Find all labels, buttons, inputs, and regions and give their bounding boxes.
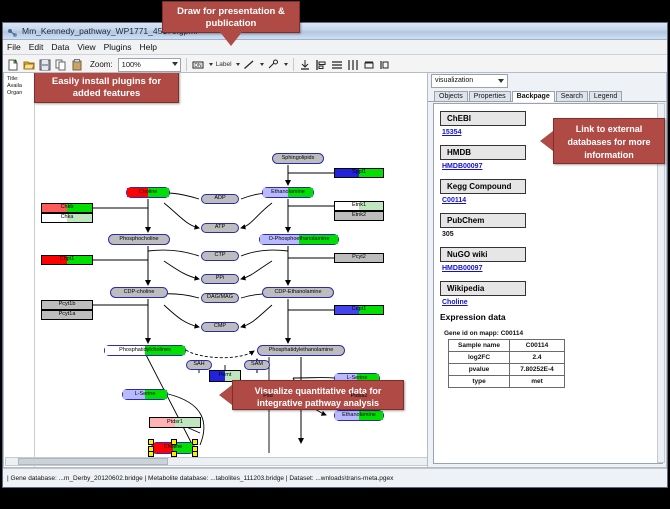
node-label: Sphingolipids [282,156,315,162]
node-label: CTP [215,253,226,259]
table-row: Sample name C00114 [449,340,565,352]
align-top-icon[interactable] [299,58,312,71]
node-label: L-Serine [135,392,156,398]
save-icon[interactable] [38,58,51,71]
db-header-wikipedia: Wikipedia [440,281,526,296]
metabolite-node-cmp[interactable]: CMP [201,322,239,332]
db-link-nugo[interactable]: HMDB00097 [442,265,656,272]
gene-node-pcyt1a[interactable]: Pcyt1a [41,310,93,320]
metabolite-node-adp[interactable]: ADP [201,194,239,204]
node-label: O-Phosphoethanolamine [269,237,330,243]
canvas-hscrollbar[interactable] [5,457,428,466]
gene-node-sgpl1[interactable]: Sgpl1 [334,168,384,178]
db-header-hmdb: HMDB [440,145,526,160]
table-row: log2FC 2.4 [449,352,565,364]
exp-key-type: type [449,376,510,388]
metabolite-node-sah[interactable]: SAH [186,360,212,370]
db-link-wikipedia[interactable]: Choline [442,299,656,306]
callout-links-text: Link to external databases for more info… [567,124,650,160]
callout-visualize: Visualize quantitative data for integrat… [232,380,404,410]
callout-draw: Draw for presentation & publication [162,1,300,33]
gene-node-chpt1[interactable]: Chpt1 [41,255,93,265]
callout-links-arrow [540,131,553,151]
distribute-icon[interactable] [347,58,360,71]
copy-icon[interactable] [54,58,67,71]
node-label: Chkb [61,205,74,211]
tab-search[interactable]: Search [556,91,588,101]
metabolite-node-phosphocholine[interactable]: Phosphocholine [108,234,170,245]
node-label: Etnk1 [352,203,366,209]
callout-draw-text: Draw for presentation & publication [177,6,285,29]
metabolite-node-ctp[interactable]: CTP [201,251,239,261]
node-label: Pcyt2 [352,255,366,261]
db-link-kegg[interactable]: C00114 [442,197,656,204]
callout-plugins-text: Easily install plugins for added feature… [52,76,161,99]
metabolite-node-o-phosphoethanolamine[interactable]: O-Phosphoethanolamine [259,234,339,245]
callout-links: Link to external databases for more info… [553,118,665,164]
svg-text:DN: DN [195,63,203,69]
node-label: Ethanolamine [342,413,376,419]
expression-table: Sample name C00114 log2FC 2.4 pvalue 7.8… [448,339,565,388]
status-bar: | Gene database: ...m_Derby_20120602.bri… [3,468,667,487]
db-value-pubchem: 305 [442,231,656,238]
metabolite-node-l-serine-left[interactable]: L-Serine [122,389,168,400]
line-icon[interactable] [243,58,256,71]
anchor-dropdown-icon[interactable] [284,63,288,66]
zoom-label: Zoom: [90,60,113,69]
exp-val-log2fc: 2.4 [510,352,565,364]
node-label: PPi [216,276,225,282]
tab-objects[interactable]: Objects [434,91,468,101]
metabolite-node-phosphatidylethanolamine[interactable]: Phosphatidylethanolamine [257,345,345,356]
node-label: Pcyt1b [59,302,76,308]
label-dropdown-icon[interactable] [236,63,240,66]
node-label: Cept1 [352,307,367,313]
metabolite-node-ppi[interactable]: PPi [201,274,239,284]
node-label: Pcyt1a [59,312,76,318]
metabolite-node-sam[interactable]: SAM [244,360,270,370]
exp-val-sample-name: C00114 [510,340,565,352]
stack-icon[interactable] [331,58,344,71]
tab-properties[interactable]: Properties [469,91,511,101]
node-label: Pemt [219,373,232,379]
node-label: Choline [164,445,183,451]
resize-handle[interactable] [192,439,198,445]
menu-item-help[interactable]: Help [140,42,157,52]
node-label: SAM [251,362,263,368]
exp-key-pvalue: pvalue [449,364,510,376]
zoom-select[interactable]: 100% [118,58,181,72]
db-header-pubchem: PubChem [440,213,526,228]
align-left-icon[interactable] [315,58,328,71]
metabolite-node-cdp-choline[interactable]: CDP-choline [110,287,168,298]
node-label: ADP [214,196,225,202]
expression-data-title: Expression data [440,312,656,322]
node-label: Ptdsr1 [167,420,183,426]
pathvisio-window: Mm_Kennedy_pathway_WP1771_45176.gpml Fil… [2,22,668,488]
exp-val-type: met [510,376,565,388]
anchor-icon[interactable] [267,58,280,71]
menu-item-file[interactable]: File [7,42,21,52]
node-label: Sgpl1 [352,170,366,176]
node-label: Psd [263,394,272,400]
menu-item-plugins[interactable]: Plugins [104,42,132,52]
callout-plugins-arrow [81,72,103,73]
table-row: pvalue 7.80252E-4 [449,364,565,376]
node-label: DAG/MAG [207,295,233,301]
zoom-value: 100% [122,60,141,69]
screenshot-root: Mm_Kennedy_pathway_WP1771_45176.gpml Fil… [0,0,670,509]
gene-node-cept1[interactable]: Cept1 [334,305,384,315]
datanode-icon[interactable]: DN [192,58,205,71]
toolbar-separator [186,58,187,71]
status-bar-text: | Gene database: ...m_Derby_20120602.bri… [7,475,393,482]
chevron-down-icon [498,79,504,83]
db-header-chebi: ChEBI [440,111,526,126]
menu-item-edit[interactable]: Edit [29,42,44,52]
node-label: Phosphatidylcholines [119,348,171,354]
chevron-down-icon [172,62,178,66]
resize-handle[interactable] [148,439,154,445]
db-header-nugo: NuGO wiki [440,247,526,262]
visualization-select[interactable]: visualization [431,74,508,88]
gene-id-line: Gene id on mapp: C00114 [444,330,656,337]
node-label: Phosphatidylethanolamine [269,348,334,354]
exp-key-log2fc: log2FC [449,352,510,364]
node-label: Chka [61,215,74,221]
node-label: Phosphocholine [119,237,158,243]
node-label: Ethanolamine [271,190,305,196]
callout-draw-arrow [220,32,242,46]
menu-item-view[interactable]: View [77,42,95,52]
tab-backpage[interactable]: Backpage [512,91,555,102]
gene-node-chka[interactable]: Chka [41,213,93,223]
db-header-kegg: Kegg Compound [440,179,526,194]
node-label: L-Serine [347,376,368,382]
window-titlebar: Mm_Kennedy_pathway_WP1771_45176.gpml [3,23,667,40]
exp-key-sample-name: Sample name [449,340,510,352]
order-icon[interactable] [379,58,392,71]
node-label: CMP [214,324,226,330]
label-tool-label[interactable]: Label [216,61,232,68]
gene-node-ptdsr1[interactable]: Ptdsr1 [149,417,201,428]
exp-val-pvalue: 7.80252E-4 [510,364,565,376]
visualization-bar: visualization [428,73,666,88]
gene-node-pcyt2[interactable]: Pcyt2 [334,253,384,263]
node-label: ATP [215,225,225,231]
toolbar-separator-2 [293,58,294,71]
app-icon [7,26,18,37]
datanode-dropdown-icon[interactable] [209,63,213,66]
metabolite-node-atp[interactable]: ATP [201,223,239,233]
side-panel-tabs: Objects Properties Backpage Search Legen… [428,88,666,102]
node-label: CDP-choline [124,290,155,296]
new-icon[interactable] [6,58,19,71]
node-label: Ptdss2 [351,394,368,400]
table-row: type met [449,376,565,388]
open-icon[interactable] [22,58,35,71]
node-label: Etnk2 [352,213,366,219]
metabolite-node-sphingolipids[interactable]: Sphingolipids [272,153,324,164]
metabolite-node-ethanolamine-top[interactable]: Ethanolamine [262,187,314,198]
line-dropdown-icon[interactable] [260,63,264,66]
paste-icon[interactable] [70,58,83,71]
node-label: CDP-Ethanolamine [274,290,321,296]
node-label: Chpt1 [60,257,75,263]
gene-node-etnk1[interactable]: Etnk1 [334,201,384,211]
metabolite-node-ethanolamine-right[interactable]: Ethanolamine [334,410,384,421]
db-link-hmdb[interactable]: HMDB00097 [442,163,656,170]
tab-legend[interactable]: Legend [589,91,622,101]
menu-bar: File Edit Data View Plugins Help [3,40,667,55]
gene-node-etnk2[interactable]: Etnk2 [334,211,384,221]
callout-plugins: Easily install plugins for added feature… [34,72,179,103]
canvas-hscroll-thumb[interactable] [18,458,168,465]
node-label: Choline [139,190,158,196]
menu-item-data[interactable]: Data [51,42,69,52]
metabolite-node-dagmag[interactable]: DAG/MAG [201,293,239,303]
metabolite-node-phosphatidylcholines[interactable]: Phosphatidylcholines [104,345,186,356]
visualization-value: visualization [435,77,473,84]
metabolite-node-choline-top[interactable]: Choline [126,187,170,198]
pathway-canvas[interactable]: Title: Availa Organ [3,72,428,468]
callout-visualize-arrow [219,385,232,405]
group-icon[interactable] [363,58,376,71]
gene-node-chkb[interactable]: Chkb [41,203,93,213]
gene-node-pcyt1b[interactable]: Pcyt1b [41,300,93,310]
metabolite-node-cdp-ethanolamine[interactable]: CDP-Ethanolamine [262,287,334,298]
node-label: SAH [193,362,204,368]
